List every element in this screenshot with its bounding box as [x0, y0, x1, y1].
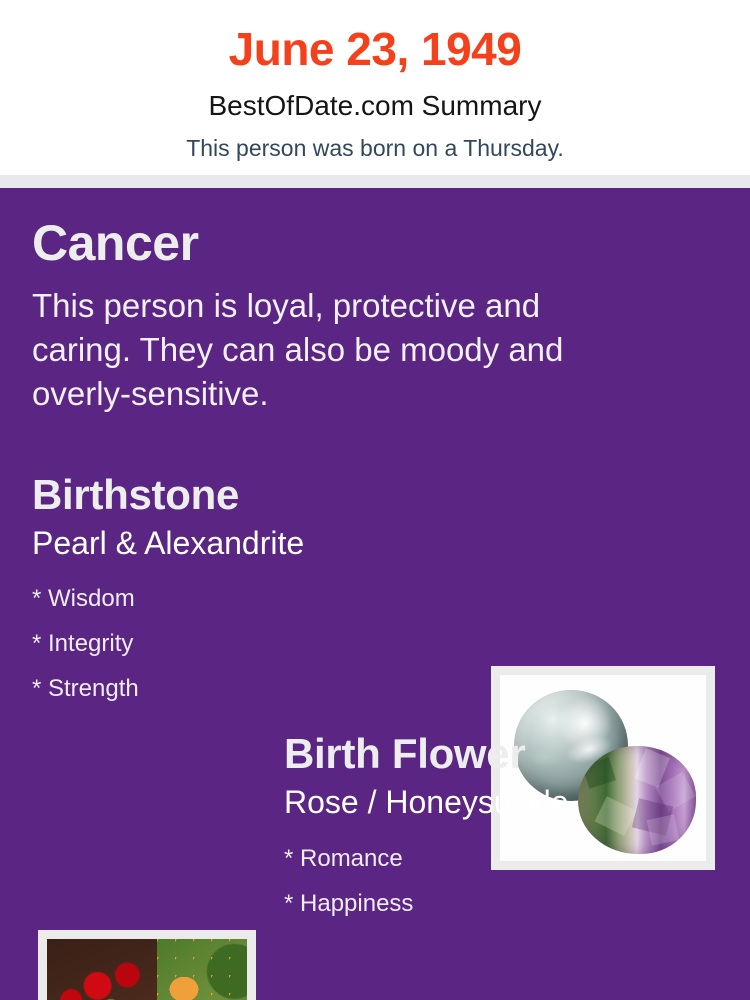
list-item: * Strength [32, 666, 139, 711]
zodiac-description: This person is loyal, protective and car… [32, 284, 644, 416]
gem-facet [646, 814, 679, 845]
list-item: * Wisdom [32, 576, 139, 621]
birth-flower-traits-list: * Romance * Happiness [284, 836, 413, 926]
honeysuckle-photo-half [157, 939, 247, 1000]
site-name: BestOfDate.com Summary [0, 72, 750, 120]
birth-flower-photo [47, 939, 247, 1000]
list-item: * Romance [284, 836, 413, 881]
birthstone-heading: Birthstone [32, 474, 239, 516]
alexandrite-gem-icon [578, 746, 695, 854]
birth-flower-photo-frame [38, 930, 256, 1000]
birthstone-name: Pearl & Alexandrite [32, 527, 304, 559]
page-title-date: June 23, 1949 [0, 0, 750, 72]
birthstone-traits-list: * Wisdom * Integrity * Strength [32, 576, 139, 711]
birthstone-photo [500, 675, 706, 861]
list-item: * Happiness [284, 881, 413, 926]
birth-flower-name: Rose / Honeysuckle [284, 786, 569, 818]
gem-facet [595, 796, 637, 836]
header-divider [0, 175, 750, 188]
header: June 23, 1949 BestOfDate.com Summary Thi… [0, 0, 750, 175]
weekday-note: This person was born on a Thursday. [0, 120, 750, 160]
zodiac-sign-title: Cancer [32, 218, 199, 268]
birth-flower-heading: Birth Flower [284, 733, 525, 775]
rose-photo-half [47, 939, 157, 1000]
list-item: * Integrity [32, 621, 139, 666]
details-panel: Cancer This person is loyal, protective … [0, 188, 750, 1000]
date-summary-card: June 23, 1949 BestOfDate.com Summary Thi… [0, 0, 750, 1000]
